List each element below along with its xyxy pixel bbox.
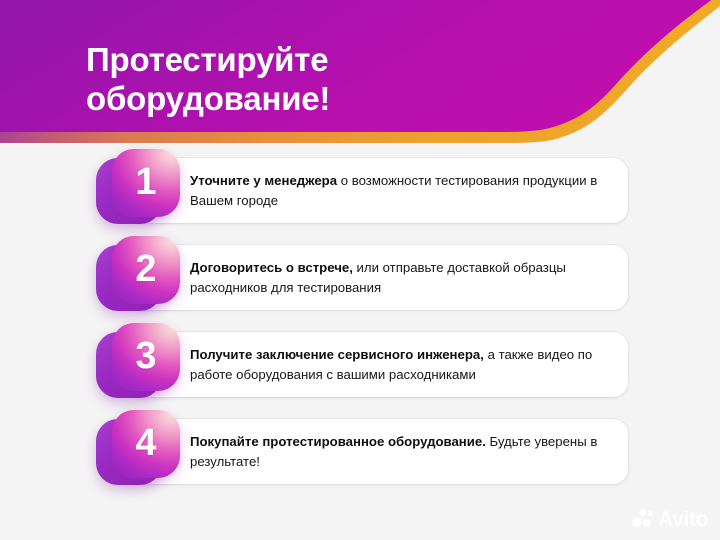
step-text-bold: Получите заключение сервисного инженера, [190,347,484,362]
badge-number: 1 [135,163,156,201]
step-number-badge: 3 [96,323,180,407]
header-banner: Протестируйте оборудование! [0,0,720,150]
avito-wordmark: Avito [658,509,708,530]
step-number-badge: 1 [96,149,180,233]
badge-front-layer: 1 [112,149,180,217]
list-item[interactable]: Получите заключение сервисного инженера,… [0,332,720,397]
step-text: Договоритесь о встрече, или отправьте до… [128,258,628,296]
list-item[interactable]: Покупайте протестированное оборудование.… [0,419,720,484]
step-text-bold: Уточните у менеджера [190,173,337,188]
step-number-badge: 4 [96,410,180,494]
logo-dot-medium [643,519,651,527]
logo-dot-tiny [648,511,653,516]
logo-dot-small [639,509,646,516]
step-card[interactable]: Договоритесь о встрече, или отправьте до… [128,245,628,310]
step-text: Получите заключение сервисного инженера,… [128,345,628,383]
step-card[interactable]: Покупайте протестированное оборудование.… [128,419,628,484]
step-text-bold: Покупайте протестированное оборудование. [190,434,486,449]
avito-logo-icon [632,508,654,530]
badge-front-layer: 2 [112,236,180,304]
step-text: Уточните у менеджера о возможности тести… [128,171,628,209]
badge-number: 4 [135,424,156,462]
logo-dot-large [632,517,642,527]
step-card[interactable]: Получите заключение сервисного инженера,… [128,332,628,397]
badge-front-layer: 3 [112,323,180,391]
list-item[interactable]: Уточните у менеджера о возможности тести… [0,158,720,223]
step-card[interactable]: Уточните у менеджера о возможности тести… [128,158,628,223]
list-item[interactable]: Договоритесь о встрече, или отправьте до… [0,245,720,310]
badge-number: 2 [135,250,156,288]
step-text-bold: Договоритесь о встрече, [190,260,353,275]
poster-canvas: Протестируйте оборудование! Уточните у м… [0,0,720,540]
step-number-badge: 2 [96,236,180,320]
avito-watermark: Avito [632,508,708,530]
step-text: Покупайте протестированное оборудование.… [128,432,628,470]
badge-front-layer: 4 [112,410,180,478]
badge-number: 3 [135,337,156,375]
page-title: Протестируйте оборудование! [86,41,516,118]
steps-list: Уточните у менеджера о возможности тести… [0,158,720,506]
